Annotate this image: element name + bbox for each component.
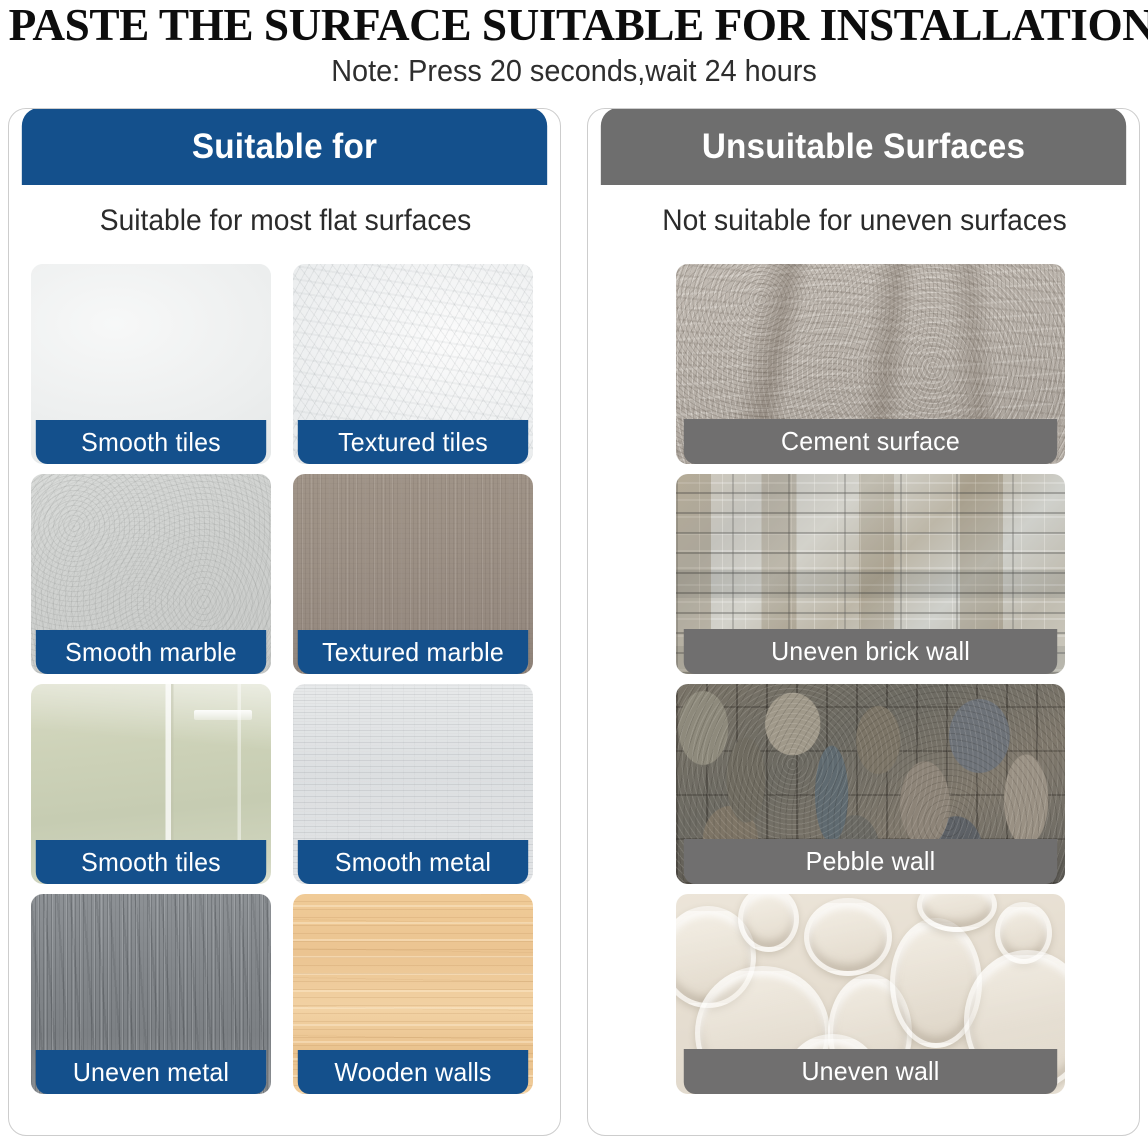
swatch-smooth-marble[interactable]: Smooth marble [31,474,271,674]
swatch-glass-tiles[interactable]: Smooth tiles [31,684,271,884]
swatch-uneven-metal[interactable]: Uneven metal [31,894,271,1094]
swatch-label: Smooth marble [36,630,266,674]
page-subtitle: Note: Press 20 seconds,wait 24 hours [40,52,1108,90]
unsuitable-panel: Unsuitable Surfaces Not suitable for une… [587,108,1140,1136]
unsuitable-panel-header: Unsuitable Surfaces [601,108,1126,185]
photo-cement-surface[interactable]: Cement surface [676,264,1065,464]
swatch-textured-marble[interactable]: Textured marble [293,474,533,674]
suitable-panel-header: Suitable for [22,108,547,185]
swatch-label: Textured marble [298,630,528,674]
swatch-label: Uneven metal [36,1050,266,1094]
swatch-textured-tiles[interactable]: Textured tiles [293,264,533,464]
swatch-label: Wooden walls [298,1050,528,1094]
suitable-panel-caption: Suitable for most flat surfaces [26,204,546,238]
unsuitable-panel-caption: Not suitable for uneven surfaces [605,204,1125,238]
swatch-label: Smooth tiles [36,840,266,884]
swatch-smooth-metal[interactable]: Smooth metal [293,684,533,884]
photo-pebble-wall[interactable]: Pebble wall [676,684,1065,884]
swatch-wooden-walls[interactable]: Wooden walls [293,894,533,1094]
swatch-smooth-tiles[interactable]: Smooth tiles [31,264,271,464]
suitable-swatch-grid: Smooth tiles Textured tiles Smooth marbl… [31,264,540,1094]
swatch-label: Smooth tiles [36,420,266,464]
photo-uneven-brick-wall[interactable]: Uneven brick wall [676,474,1065,674]
unsuitable-photo-stack: Cement surface Uneven brick wall Pebble … [676,264,1065,1094]
photo-label: Pebble wall [684,839,1057,884]
photo-label: Uneven brick wall [684,629,1057,674]
photo-uneven-wall[interactable]: Uneven wall [676,894,1065,1094]
photo-label: Uneven wall [684,1049,1057,1094]
page-title: PASTE THE SURFACE SUITABLE FOR INSTALLAT… [9,0,1140,50]
swatch-label: Textured tiles [298,420,528,464]
swatch-label: Smooth metal [298,840,528,884]
suitable-panel: Suitable for Suitable for most flat surf… [8,108,561,1136]
photo-label: Cement surface [684,419,1057,464]
